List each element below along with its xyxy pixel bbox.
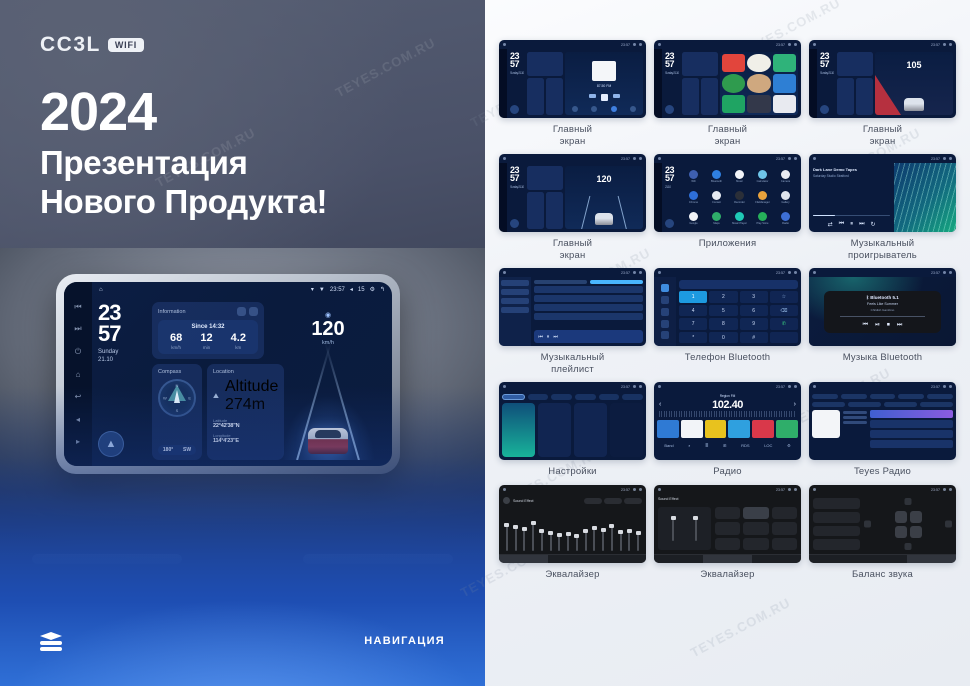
seat-front-left [895, 511, 907, 523]
eq-band-slider[interactable] [532, 521, 534, 551]
grid-cell[interactable]: 23:57 2357Sunday 21.10 105 [809, 40, 956, 147]
dial-key[interactable]: 0 [709, 332, 737, 344]
eq-band-slider[interactable] [576, 534, 578, 551]
dial-key[interactable]: 1 [679, 291, 707, 303]
equalizer-tabs[interactable] [499, 554, 646, 563]
tab-apps[interactable] [575, 394, 596, 400]
playlist-row[interactable] [534, 304, 643, 311]
preset-button[interactable] [772, 522, 797, 534]
preset-button[interactable] [743, 507, 768, 519]
hud-widget[interactable]: 105 [875, 52, 953, 115]
volume-icon: ◂ [350, 286, 353, 293]
dial-key[interactable]: 4 [679, 305, 707, 317]
hero-headline: 2024 Презентация Нового Продукта! [40, 85, 327, 222]
backspace-icon[interactable]: ⌫ [770, 305, 798, 317]
previous-icon[interactable]: ⏮ [538, 334, 543, 340]
screenshot-grid: 23:57 2357Sunday 21.10 87.50 FM [499, 40, 956, 581]
hud-widget[interactable]: 120 [565, 166, 643, 229]
grid-cell-caption: Главный экран [553, 238, 592, 261]
tab-system[interactable] [622, 394, 643, 400]
station-row[interactable] [870, 410, 953, 418]
grid-cell[interactable]: 23:57 [499, 268, 646, 375]
balance-right-arrow[interactable] [945, 521, 952, 528]
navigation-fab-button[interactable] [510, 105, 519, 114]
dial-key[interactable]: 3 [740, 291, 768, 303]
sidebar-item-contacts[interactable] [661, 308, 669, 316]
eq-band-slider[interactable] [558, 533, 560, 551]
trip-stat: 4.2 km [231, 333, 246, 350]
eq-band-slider[interactable] [506, 523, 508, 551]
teyes-radio-filters[interactable] [809, 402, 956, 410]
eq-band-slider[interactable] [611, 524, 613, 551]
player-controls[interactable]: ⇄ ⏮ ⏸ ⏭ ↻ [813, 221, 890, 228]
clock-day: Sunday [98, 348, 146, 356]
app-tile[interactable]: Music [729, 167, 750, 186]
equalizer-sliders[interactable] [499, 506, 646, 554]
app-icon[interactable] [747, 54, 770, 72]
app-tile[interactable]: Calculator [752, 167, 773, 186]
compass-readout: 180° SW [158, 445, 196, 455]
app-tile[interactable]: Camera [775, 167, 796, 186]
tab-display[interactable] [551, 394, 572, 400]
grid-cell-caption: Музыка Bluetooth [843, 352, 923, 364]
longitude-value: 114°4'23"E [213, 438, 278, 444]
teyes-radio-body [809, 410, 956, 460]
playlist-row[interactable] [534, 286, 643, 293]
sidebar-item-favorites[interactable] [661, 320, 669, 328]
player-progress-bar[interactable] [813, 215, 890, 217]
trip-since-label: Since 14:32 [161, 324, 255, 330]
radio-bottom-bar[interactable]: Band ⌕ ≣ ⊞ RDS LOC ⚙ [654, 441, 801, 450]
stop-icon[interactable]: ⏹ [887, 322, 890, 329]
app-tile[interactable]: Gallery [775, 188, 796, 207]
playlist-now-playing-bar[interactable]: ⏮ ⏸ ⏭ [534, 330, 643, 343]
grid-cell[interactable]: 23:57 2357Sunday 21.10 [654, 40, 801, 147]
equalizer-presets[interactable] [584, 498, 642, 504]
app-shortcuts-widget[interactable] [720, 52, 798, 115]
radio-preset[interactable] [752, 420, 774, 438]
playlist-sidebar[interactable] [499, 277, 531, 346]
navigation-fab-button[interactable] [665, 105, 674, 114]
bluetooth-icon: ᛒ [866, 295, 869, 300]
latitude-row: Latitude 22°42'38"N [213, 418, 278, 429]
information-card[interactable] [527, 52, 563, 76]
app-icon[interactable] [773, 74, 796, 92]
radio-preset[interactable] [705, 420, 727, 438]
app-tile[interactable]: Contact [706, 188, 727, 207]
equalizer-header: Sound Effect [499, 494, 646, 506]
eq-band-slider[interactable] [585, 529, 587, 552]
wifi-badge: WIFI [108, 38, 144, 52]
hero-headline-line1: Презентация [40, 144, 327, 183]
balance-preset[interactable] [813, 526, 860, 537]
grid-cell[interactable]: 23:57 ᛒ Bluetooth 5.1 Feels Like Summer … [809, 268, 956, 375]
eq-band-slider[interactable] [620, 530, 622, 551]
home-screen-hud2-thumb[interactable]: 23:57 2357Sunday 21.10 120 [499, 154, 646, 232]
station-meta [843, 410, 867, 457]
grid-cell[interactable]: 23:57 [499, 382, 646, 478]
app-tile[interactable]: Wifi [683, 167, 704, 186]
settings-screen-thumb[interactable]: 23:57 [499, 382, 646, 460]
settings-gear-icon[interactable]: ⚙ [787, 443, 791, 448]
eq-band-slider[interactable] [567, 532, 569, 551]
grid-cell[interactable]: 23:57 2357Sunday 21.10 120 [499, 154, 646, 261]
trip-info: Since 14:32 68 km/h 12 [158, 320, 258, 354]
previous-icon[interactable]: ⏮ [839, 221, 844, 228]
grid-cell[interactable]: 23:57 Sound Effect [654, 485, 801, 581]
grid-cell[interactable]: 23:57 Sound Effect [499, 485, 646, 581]
pause-icon[interactable]: ⏸ [850, 221, 853, 228]
app-tile[interactable]: Chrome [683, 188, 704, 207]
grid-cell[interactable]: 23:57 235721.10 Wifi Bluetooth Music Cal… [654, 154, 801, 261]
tab-sound[interactable] [528, 394, 549, 400]
tab-wlan[interactable] [502, 394, 525, 400]
home-screen-media-thumb[interactable]: 23:57 2357Sunday 21.10 87.50 FM [499, 40, 646, 118]
compass-card[interactable]: Compass N S W E [152, 364, 202, 460]
dial-key[interactable]: # [740, 332, 768, 344]
grid-cell-caption: Настройки [548, 466, 596, 478]
station-row[interactable] [870, 420, 953, 428]
equalizer-tabs[interactable] [654, 554, 801, 563]
app-tile[interactable]: Recorder [729, 188, 750, 207]
phone-sidebar[interactable] [654, 277, 676, 346]
play-pause-icon[interactable]: ⏯ [875, 322, 880, 329]
bluetooth-phone-screen-thumb[interactable]: 23:57 1 2 [654, 268, 801, 346]
mini-side-rail [499, 49, 507, 118]
hero-footer: НАВИГАЦИЯ [0, 632, 485, 650]
settings-tabs[interactable] [499, 391, 646, 403]
equalizer-screen-thumb[interactable]: 23:57 Sound Effect [499, 485, 646, 563]
dial-pad[interactable]: 1 2 3 ☆ 4 5 6 ⌫ 7 8 9 ✆ [679, 291, 798, 343]
dial-key[interactable]: 9 [740, 318, 768, 330]
bluetooth-music-screen-thumb[interactable]: 23:57 ᛒ Bluetooth 5.1 Feels Like Summer … [809, 268, 956, 346]
compass-west-label: W [163, 396, 167, 401]
sidebar-item-albums[interactable] [501, 298, 529, 304]
eq-band-slider[interactable] [541, 529, 543, 551]
station-row[interactable] [870, 430, 953, 438]
next-icon[interactable]: ⏭ [553, 334, 558, 340]
tab-field[interactable] [752, 554, 801, 563]
grid-cell[interactable]: 23:57 Dark Lane Demo Tapes Saturday Stud… [809, 154, 956, 261]
settings-gear-icon[interactable]: ⚙ [370, 286, 375, 293]
eq-band-slider[interactable] [628, 529, 630, 552]
media-widget[interactable]: 87.50 FM [565, 52, 643, 115]
tune-down-icon[interactable]: ‹ [659, 401, 661, 408]
volume-up-icon[interactable]: ▸ [74, 437, 83, 446]
search-icon[interactable]: ⌕ [688, 443, 690, 448]
grid-cell-caption: Приложения [699, 238, 757, 250]
music-playlist-screen-thumb[interactable]: 23:57 [499, 268, 646, 346]
radio-preset[interactable] [681, 420, 703, 438]
more-card[interactable] [574, 403, 607, 457]
trip-stat-value: 68 [170, 333, 182, 344]
tab-balance[interactable] [548, 554, 597, 563]
equalizer-title: Sound Effect [513, 499, 534, 503]
back-icon[interactable]: ↩ [74, 392, 83, 401]
eq-band-slider[interactable] [593, 526, 595, 551]
radio-presets[interactable] [654, 417, 801, 441]
trip-stat-unit: km [231, 345, 246, 350]
tab-field[interactable] [907, 554, 956, 563]
home-indicator-icon[interactable]: ⌂ [99, 287, 103, 293]
grid-cell[interactable]: 23:57 1 2 [654, 268, 801, 375]
teyes-radio-tabs[interactable] [809, 391, 956, 402]
radio-preset[interactable] [728, 420, 750, 438]
dial-key[interactable]: 5 [709, 305, 737, 317]
sidebar-item-settings[interactable] [661, 331, 669, 339]
tab-eq[interactable] [499, 554, 548, 563]
head-unit-screen[interactable]: ⏮ ⏭ ⏻ ⌂ ↩ ◂ ▸ ⌂ ▾ ▼ 2 [64, 282, 392, 466]
playlist-row[interactable] [534, 313, 643, 320]
trip-stat: 12 min [200, 333, 212, 350]
navigation-fab-button[interactable]: ▲ [98, 431, 124, 457]
eq-icon[interactable]: ⊞ [723, 443, 726, 448]
repeat-icon[interactable]: ↻ [871, 221, 876, 228]
trip-stat-unit: min [200, 345, 212, 350]
clock-date: 21.10 [98, 356, 146, 364]
preset-button[interactable] [715, 522, 740, 534]
traffic-card[interactable] [538, 403, 571, 457]
brand-logo: CC3L WIFI [40, 33, 144, 57]
preset-button[interactable] [772, 538, 797, 550]
clock-minutes: 57 [98, 323, 146, 344]
sidebar-item-artists[interactable] [501, 289, 529, 295]
next-icon[interactable]: ⏭ [897, 322, 902, 329]
dialer-main: 1 2 3 ☆ 4 5 6 ⌫ 7 8 9 ✆ [676, 277, 801, 346]
home-content: 23 57 Sunday 21.10 ▲ Infor [92, 297, 392, 466]
radio-screen-thumb[interactable]: 23:57 Region FM 102.40 ‹ › [654, 382, 801, 460]
sidebar-item-folders[interactable] [501, 307, 529, 313]
teyes-radio-screen-thumb[interactable]: 23:57 [809, 382, 956, 460]
phone-number-field[interactable] [679, 280, 798, 289]
hud-speed-value: 120 [565, 174, 643, 184]
power-icon[interactable]: ⏻ [74, 347, 83, 356]
bt-progress-bar[interactable] [840, 316, 925, 317]
equalizer-simple-screen-thumb[interactable]: 23:57 Sound Effect [654, 485, 801, 563]
app-tile[interactable]: Maps [706, 209, 727, 228]
next-track-icon[interactable]: ⏭ [74, 324, 83, 333]
app-icon[interactable] [722, 74, 745, 92]
balance-preset[interactable] [813, 498, 860, 509]
information-card[interactable]: Information Since 14:32 [152, 302, 264, 359]
wifi-status-icon: ▾ [311, 286, 314, 293]
altitude-value: 274m [225, 396, 265, 413]
favorite-icon[interactable]: ☆ [770, 291, 798, 303]
app-tile[interactable]: Radio [775, 209, 796, 228]
app-drawer[interactable]: Wifi Bluetooth Music Calculator Camera C… [681, 166, 798, 229]
more-icon[interactable] [770, 332, 798, 344]
tab-general[interactable] [599, 394, 620, 400]
compass-heading: 180° [163, 447, 173, 453]
balance-body [809, 494, 956, 554]
trip-stats: 68 km/h 12 min [161, 333, 255, 350]
hud-lane-warning [875, 75, 901, 115]
equalizer-simple-body [654, 503, 801, 554]
longitude-row: Longitude 114°4'23"E [213, 433, 278, 444]
sound-balance-screen-thumb[interactable]: 23:57 [809, 485, 956, 563]
pause-icon[interactable]: ⏸ [547, 334, 550, 340]
location-card[interactable] [546, 78, 563, 115]
home-screen-apps-thumb[interactable]: 23:57 2357Sunday 21.10 [654, 40, 801, 118]
clock-column: 23 57 Sunday 21.10 ▲ [98, 302, 146, 460]
grid-cell[interactable]: 23:57 Region FM 102.40 ‹ › [654, 382, 801, 478]
grid-cell-caption: Музыкальный плейлист [541, 352, 605, 375]
back-arrow-icon[interactable]: ↰ [380, 286, 385, 293]
status-bar: ⌂ ▾ ▼ 23:57 ◂ 15 ⚙ ↰ [92, 282, 392, 297]
sidebar-item-recent[interactable] [661, 296, 669, 304]
grid-cell[interactable]: 23:57 2357Sunday 21.10 87.50 FM [499, 40, 646, 147]
bt-controls[interactable]: ⏮ ⏯ ⏹ ⏭ [863, 322, 903, 329]
tab-balance[interactable] [858, 554, 907, 563]
app-tile[interactable]: FileManager [752, 188, 773, 207]
sidebar-item-tracks[interactable] [501, 280, 529, 286]
tab-balance[interactable] [703, 554, 752, 563]
balance-preset[interactable] [813, 539, 860, 550]
rds-icon[interactable]: RDS [741, 443, 749, 448]
hud-speed-value: 105 [875, 60, 953, 70]
compass-east-label: E [188, 396, 191, 401]
app-tile[interactable]: Music Player [729, 209, 750, 228]
compass-card[interactable] [527, 78, 544, 115]
eq-band-slider[interactable] [602, 528, 604, 551]
eq-band-slider[interactable] [637, 531, 639, 551]
volume-down-icon[interactable]: ◂ [74, 415, 83, 424]
app-tile[interactable]: Play Store [752, 209, 773, 228]
tab-eq[interactable] [654, 554, 703, 563]
app-icon[interactable] [773, 54, 796, 72]
screen-side-rail[interactable]: ⏮ ⏭ ⏻ ⌂ ↩ ◂ ▸ [64, 282, 92, 466]
dial-key[interactable]: * [679, 332, 707, 344]
app-tile[interactable]: Bluetooth [706, 167, 727, 186]
loc-icon[interactable]: LOC [764, 443, 772, 448]
balance-preset[interactable] [813, 512, 860, 523]
grid-cell[interactable]: 23:57 [809, 485, 956, 581]
app-icon[interactable] [722, 95, 745, 113]
dial-key[interactable]: 7 [679, 318, 707, 330]
band-icon[interactable]: Band [664, 443, 673, 448]
balance-down-arrow[interactable] [905, 543, 912, 550]
balance-pad[interactable] [864, 498, 952, 550]
compass-south-label: S [176, 408, 179, 413]
equalizer-tabs[interactable] [809, 554, 956, 563]
radio-preset[interactable] [776, 420, 798, 438]
refresh-icon[interactable] [237, 307, 246, 316]
app-icon[interactable] [747, 74, 770, 92]
hud-panel[interactable]: ◉ 120 km/h [270, 302, 386, 460]
compass-card-title: Compass [158, 369, 181, 375]
seat-rear-left [895, 526, 907, 538]
seat-positions [895, 511, 922, 538]
latitude-value: 22°42'38"N [213, 423, 278, 429]
dashboard-lower [0, 456, 485, 686]
preset-button[interactable] [715, 507, 740, 519]
screenshots-panel: TEYES.COM.RU TEYES.COM.RU TEYES.COM.RU T… [485, 0, 970, 686]
preset-button[interactable] [715, 538, 740, 550]
grid-cell-caption: Баланс звука [852, 569, 913, 581]
presentation-slide: TEYES.COM.RU TEYES.COM.RU TEYES.COM.RU T… [0, 0, 970, 686]
seat-front-right [910, 511, 922, 523]
preset-grid[interactable] [715, 507, 797, 550]
album-art [812, 410, 840, 438]
clock-widget: 23 57 Sunday 21.10 [98, 302, 146, 364]
playlist-row[interactable] [534, 295, 643, 302]
status-time: 23:57 [330, 287, 345, 293]
expand-icon[interactable] [249, 307, 258, 316]
playlist-tabs[interactable] [534, 280, 643, 284]
preset-button[interactable] [772, 507, 797, 519]
preset-button[interactable] [743, 538, 768, 550]
sidebar-item-dialpad[interactable] [661, 284, 669, 292]
home-screen-hud-thumb[interactable]: 23:57 2357Sunday 21.10 105 [809, 40, 956, 118]
caption-line-1: Главный [553, 124, 592, 135]
station-row[interactable] [870, 440, 953, 448]
screen-body: ⌂ ▾ ▼ 23:57 ◂ 15 ⚙ ↰ [92, 282, 392, 466]
hud-speed-unit: km/h [270, 340, 386, 346]
music-player-screen-thumb[interactable]: 23:57 Dark Lane Demo Tapes Saturday Stud… [809, 154, 956, 232]
app-icon[interactable] [747, 95, 770, 113]
compass-dial: N S W E [158, 379, 196, 417]
grid-cell[interactable]: 23:57 [809, 382, 956, 478]
home-icon[interactable]: ⌂ [74, 370, 83, 379]
eq-band-slider[interactable] [515, 525, 517, 551]
previous-icon[interactable]: ⏮ [863, 322, 868, 329]
status-volume: 15 [358, 287, 365, 293]
grid-cell-caption: Главный экран [553, 124, 592, 147]
tab-eq[interactable] [809, 554, 858, 563]
dial-key[interactable]: 2 [709, 291, 737, 303]
dial-key[interactable]: 6 [740, 305, 768, 317]
bluetooth-version-label: ᛒ Bluetooth 5.1 [866, 295, 898, 300]
balance-preset-list[interactable] [813, 498, 860, 550]
seat-rear-right [910, 526, 922, 538]
compass-north-label: N [176, 383, 179, 388]
treble-slider[interactable] [695, 516, 697, 541]
balance-left-arrow[interactable] [864, 521, 871, 528]
eq-band-slider[interactable] [523, 527, 525, 551]
call-icon[interactable]: ✆ [770, 318, 798, 330]
radio-tuning-controls[interactable]: ‹ › [654, 401, 801, 408]
tab-field[interactable] [597, 554, 646, 563]
radio-preset[interactable] [657, 420, 679, 438]
list-icon[interactable]: ≣ [705, 443, 708, 448]
balance-up-arrow[interactable] [905, 498, 912, 505]
shuffle-icon[interactable]: ⇄ [828, 221, 833, 228]
preset-button[interactable] [743, 522, 768, 534]
trip-stat: 68 km/h [170, 333, 182, 350]
prev-track-icon[interactable]: ⏮ [74, 302, 83, 311]
dial-key[interactable]: 8 [709, 318, 737, 330]
bass-slider[interactable] [672, 516, 674, 541]
station-list[interactable] [870, 410, 953, 457]
settings-cards[interactable] [499, 403, 646, 460]
lower-widgets: Compass N S W E [152, 364, 264, 460]
player-info: Dark Lane Demo Tapes Saturday Studio Str… [809, 163, 894, 232]
bt-music-background: ᛒ Bluetooth 5.1 Feels Like Summer Childi… [809, 277, 956, 346]
apps-screen-thumb[interactable]: 23:57 235721.10 Wifi Bluetooth Music Cal… [654, 154, 801, 232]
brand-logo-text: CC3L [40, 33, 101, 57]
app-icon[interactable] [722, 54, 745, 72]
next-icon[interactable]: ⏭ [859, 221, 864, 228]
compass-direction: SW [183, 447, 191, 453]
app-tile[interactable]: Google [683, 209, 704, 228]
layers-icon [40, 632, 62, 650]
wlan-card[interactable] [502, 403, 535, 457]
bass-treble-sliders[interactable] [658, 507, 711, 550]
tune-up-icon[interactable]: › [794, 401, 796, 408]
bt-music-card: ᛒ Bluetooth 5.1 Feels Like Summer Childi… [824, 291, 942, 333]
eq-band-slider[interactable] [550, 531, 552, 551]
app-icon[interactable] [773, 95, 796, 113]
